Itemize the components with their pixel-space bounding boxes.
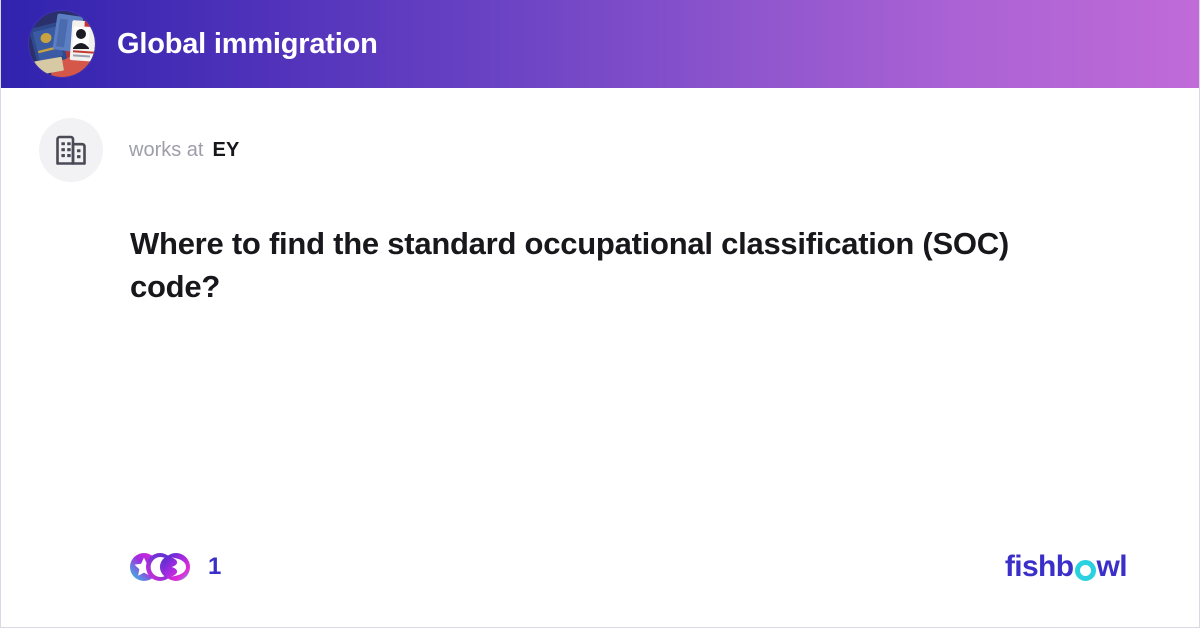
author-row: works atEY [1,88,1199,182]
reaction-stack[interactable] [130,552,190,582]
reactions-group[interactable]: 1 [130,552,221,582]
bowl-avatar[interactable] [29,11,95,77]
post-footer: 1 fishb wl [1,547,1199,587]
bowl-title: Global immigration [117,30,378,59]
post-question: Where to find the standard occupational … [130,223,1099,309]
post-card: Global immigration [0,0,1200,628]
office-building-icon [53,132,89,168]
reaction-count: 1 [208,555,221,579]
works-at-label: works at [129,139,203,161]
bowl-header: Global immigration [1,0,1199,88]
post-body: works atEY Where to find the standard oc… [1,88,1199,309]
company-name: EY [212,139,239,161]
brand-ring-o-icon [1075,560,1096,581]
brand-prefix: fishb [1005,552,1074,582]
author-affiliation: works atEY [129,140,240,160]
sparkle-reaction-icon[interactable] [162,553,190,581]
author-avatar[interactable] [39,118,103,182]
brand-suffix: wl [1097,552,1127,582]
fishbowl-logo: fishb wl [1005,552,1127,582]
